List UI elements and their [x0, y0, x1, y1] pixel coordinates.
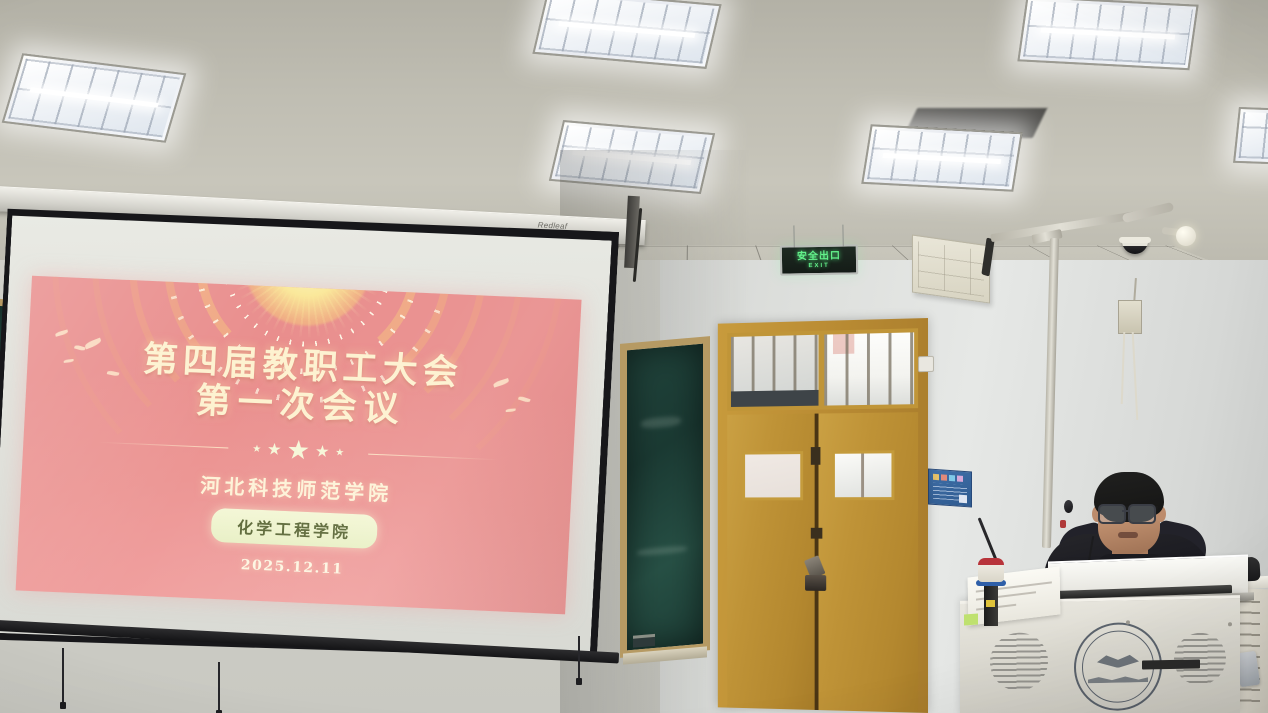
wall-info-placard — [928, 468, 972, 507]
placard-swatch — [957, 475, 963, 481]
transom-window-right — [820, 328, 918, 409]
star-divider — [98, 431, 499, 470]
divider-line-right — [368, 454, 498, 461]
ceiling-light-fixture — [1017, 0, 1198, 70]
divider-star-medium — [315, 445, 329, 459]
door-leaf-left[interactable] — [727, 414, 815, 710]
exit-sign-text-cn: 安全出口 — [797, 251, 841, 262]
divider-star-small — [253, 444, 261, 452]
divider-star-medium — [267, 443, 281, 457]
ceiling-light-fixture — [549, 120, 715, 194]
person-mouth — [1118, 532, 1138, 538]
screen-drop-cord[interactable] — [578, 636, 580, 680]
chalkboard-right — [620, 336, 710, 658]
green-sticker — [964, 614, 978, 626]
door-vision-panel-left — [742, 451, 803, 500]
divider-star-group — [252, 438, 344, 463]
fire-equipment-cap — [978, 558, 1004, 565]
exit-sign: 安全出口 EXIT — [780, 244, 859, 275]
window-mullion — [861, 454, 864, 498]
glasses-lens-right — [1128, 504, 1156, 524]
placard-swatch — [949, 475, 955, 481]
transom-shade — [731, 390, 819, 407]
ceiling-light-fixture — [1233, 107, 1268, 165]
divider-line-left — [98, 442, 228, 449]
door-lock[interactable] — [805, 575, 826, 591]
divider-star-large — [287, 439, 309, 461]
fire-equipment-tag — [986, 600, 995, 607]
podium-speaker-vent — [990, 632, 1048, 691]
screen-drop-cord[interactable] — [62, 648, 64, 704]
glasses-lens-left — [1098, 504, 1126, 524]
exit-sign-text-en: EXIT — [808, 262, 829, 268]
transom-window-left — [727, 331, 822, 411]
projection-screen: 第四届教职工大会 第一次会议 河北科技师范学院 化学工程学院 — [0, 200, 619, 671]
door-hardware — [811, 528, 823, 539]
door-vision-panel-right — [832, 450, 894, 500]
screen-drop-cord[interactable] — [218, 662, 220, 712]
placard-swatch — [941, 474, 947, 480]
door-inner — [727, 328, 918, 712]
microphone-clip — [1060, 520, 1066, 528]
electrical-box — [1118, 300, 1142, 334]
blackboard-eraser[interactable] — [633, 634, 655, 648]
slide-text-block: 第四届教职工大会 第一次会议 河北科技师范学院 化学工程学院 — [17, 336, 578, 588]
podium-label-plate — [1142, 659, 1200, 669]
slide-department-pill: 化学工程学院 — [210, 508, 378, 549]
chalk-smudge — [637, 545, 687, 556]
door-hardware — [811, 447, 821, 465]
door-sensor-icon — [918, 356, 934, 372]
placard-swatch — [933, 474, 939, 480]
conference-room-photo: Redleaf — [0, 0, 1268, 713]
qr-code-icon — [959, 495, 967, 504]
door-leaf-right[interactable] — [818, 412, 918, 713]
light-bulb-icon — [1176, 226, 1196, 246]
light-louvre — [1239, 112, 1268, 160]
double-door[interactable] — [718, 318, 928, 713]
projected-slide: 第四届教职工大会 第一次会议 河北科技师范学院 化学工程学院 — [16, 276, 582, 615]
divider-star-small — [336, 448, 344, 456]
podium-screw — [1228, 622, 1232, 626]
ceiling-light-fixture — [861, 124, 1023, 191]
wall-speaker — [912, 235, 990, 304]
microphone-head-icon — [1064, 500, 1073, 513]
glasses-bridge — [1122, 510, 1130, 512]
window-bars — [824, 332, 914, 405]
chalk-smudge — [641, 416, 681, 429]
speaker-grille — [918, 241, 984, 296]
